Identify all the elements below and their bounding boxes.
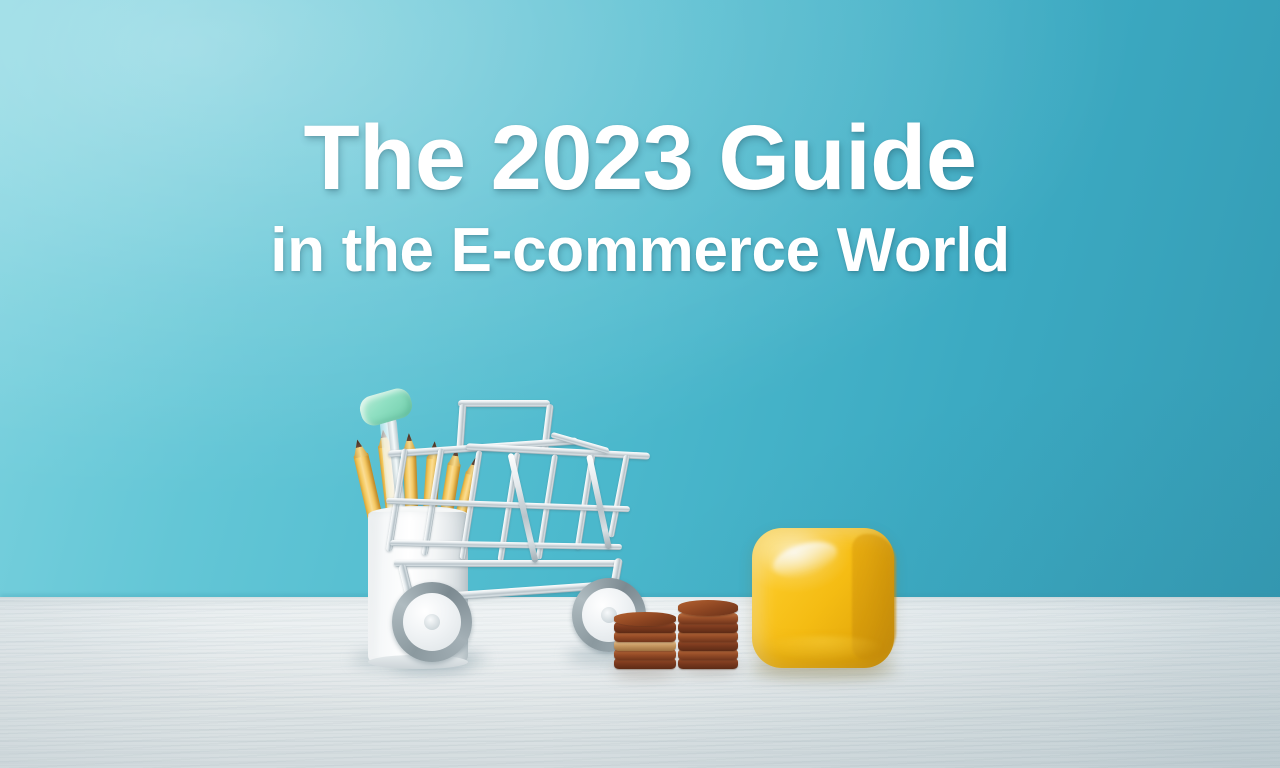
coin-stack-right [678,600,738,670]
cart-front-wheel [392,582,472,662]
cart-diagonal-brace-2 [586,454,612,549]
cart-handle-top [458,400,550,407]
coin-top-face [614,612,676,626]
banner-canvas: The 2023 Guide in the E-commerce World [0,0,1280,768]
coin-stack-left [614,612,676,670]
cart-handle-left-post [456,404,466,450]
wheel-cap [424,614,440,630]
cube-bottom-bounce [760,636,886,662]
coin-top-face [678,600,738,616]
cart-basket-vbar-7 [608,454,630,538]
pencil-lead [354,439,362,448]
product-scene [0,0,1280,768]
cart-basket-bottom-rail [394,560,618,567]
